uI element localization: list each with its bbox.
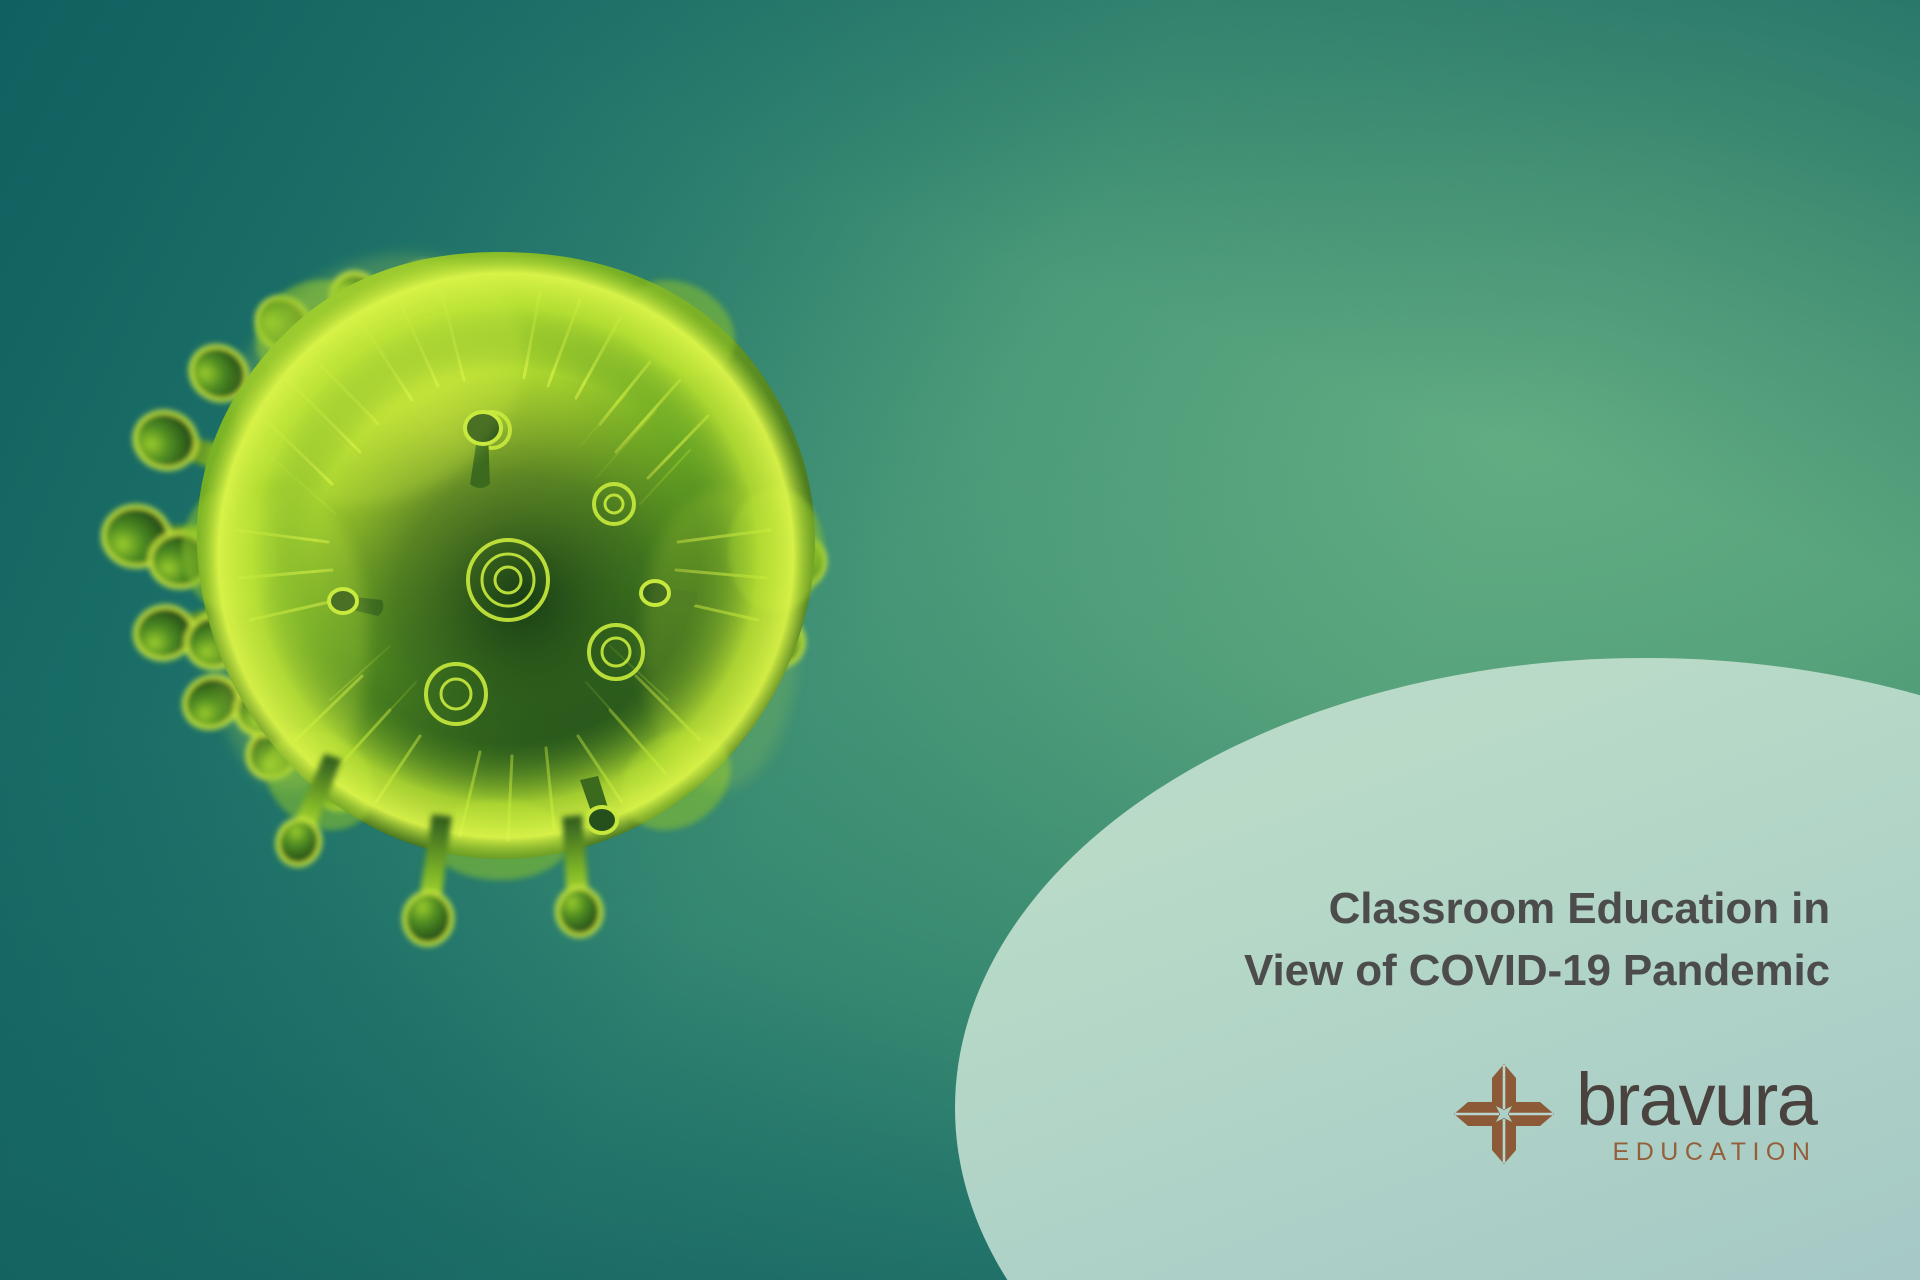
logo-wordmark: bravura (1576, 1066, 1816, 1134)
bravura-education-logo: bravura EDUCATION (1452, 1062, 1816, 1171)
logo-text-block: bravura EDUCATION (1576, 1062, 1816, 1167)
headline: Classroom Education in View of COVID-19 … (1090, 878, 1830, 1003)
coronavirus-illustration (60, 80, 960, 1000)
poster-canvas: Classroom Education in View of COVID-19 … (0, 0, 1920, 1280)
logo-tagline: EDUCATION (1576, 1138, 1816, 1167)
headline-line-1: Classroom Education in (1090, 878, 1830, 940)
bravura-quatrefoil-icon (1452, 1062, 1556, 1171)
headline-line-2: View of COVID-19 Pandemic (1090, 940, 1830, 1002)
